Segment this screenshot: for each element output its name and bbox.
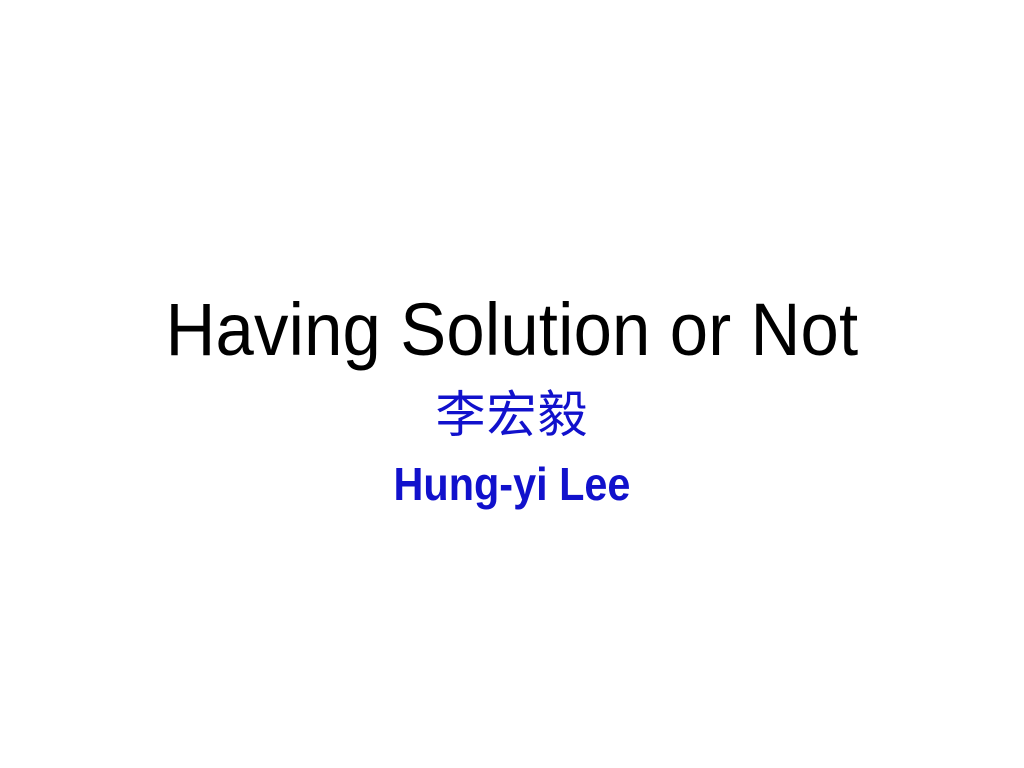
presentation-title-slide: Having Solution or Not 李宏毅 Hung-yi Lee — [0, 0, 1024, 768]
author-name-romanized: Hung-yi Lee — [51, 460, 973, 508]
page-title: Having Solution or Not — [36, 292, 988, 367]
author-name-chinese: 李宏毅 — [0, 389, 1024, 442]
title-slide-content: Having Solution or Not 李宏毅 Hung-yi Lee — [0, 292, 1024, 508]
